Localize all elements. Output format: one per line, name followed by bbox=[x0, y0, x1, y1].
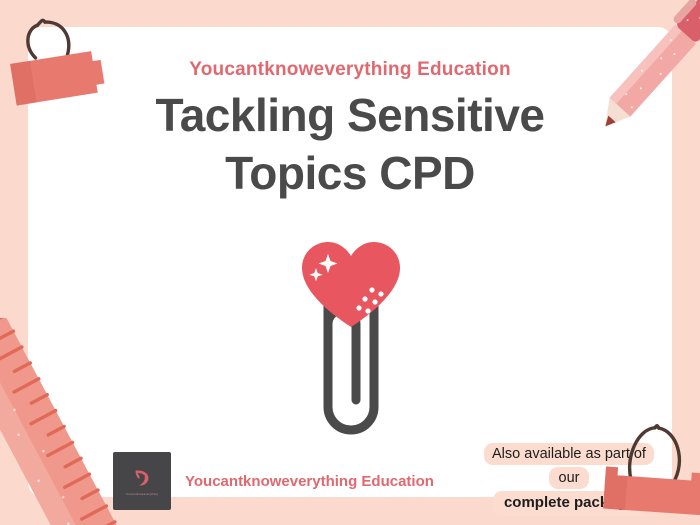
brand-logo-icon: Youcantknoweverything bbox=[113, 452, 171, 510]
page-title: Tackling Sensitive Topics CPD bbox=[28, 87, 672, 203]
heart-paperclip-graphic bbox=[286, 232, 416, 457]
callout-line-1: Also available as part of bbox=[484, 443, 654, 465]
footer-brand-label: Youcantknoweverything Education bbox=[185, 473, 434, 490]
logo-mark-icon bbox=[131, 467, 153, 489]
poster-card: Youcantknoweverything Education Tackling… bbox=[28, 27, 672, 497]
heart-icon bbox=[302, 242, 400, 327]
title-line-1: Tackling Sensitive bbox=[28, 87, 672, 145]
brand-heading: Youcantknoweverything Education bbox=[28, 59, 672, 81]
footer-brand: Youcantknoweverything Youcantknoweveryth… bbox=[113, 452, 434, 510]
callout-line-3: complete package bbox=[493, 491, 645, 516]
logo-subtext: Youcantknoweverything bbox=[126, 492, 158, 496]
callout-line-2: our bbox=[549, 467, 590, 489]
poster-canvas: Youcantknoweverything Education Tackling… bbox=[0, 0, 700, 525]
callout-block: Also available as part of our complete p… bbox=[476, 442, 662, 517]
title-line-2: Topics CPD bbox=[28, 145, 672, 203]
